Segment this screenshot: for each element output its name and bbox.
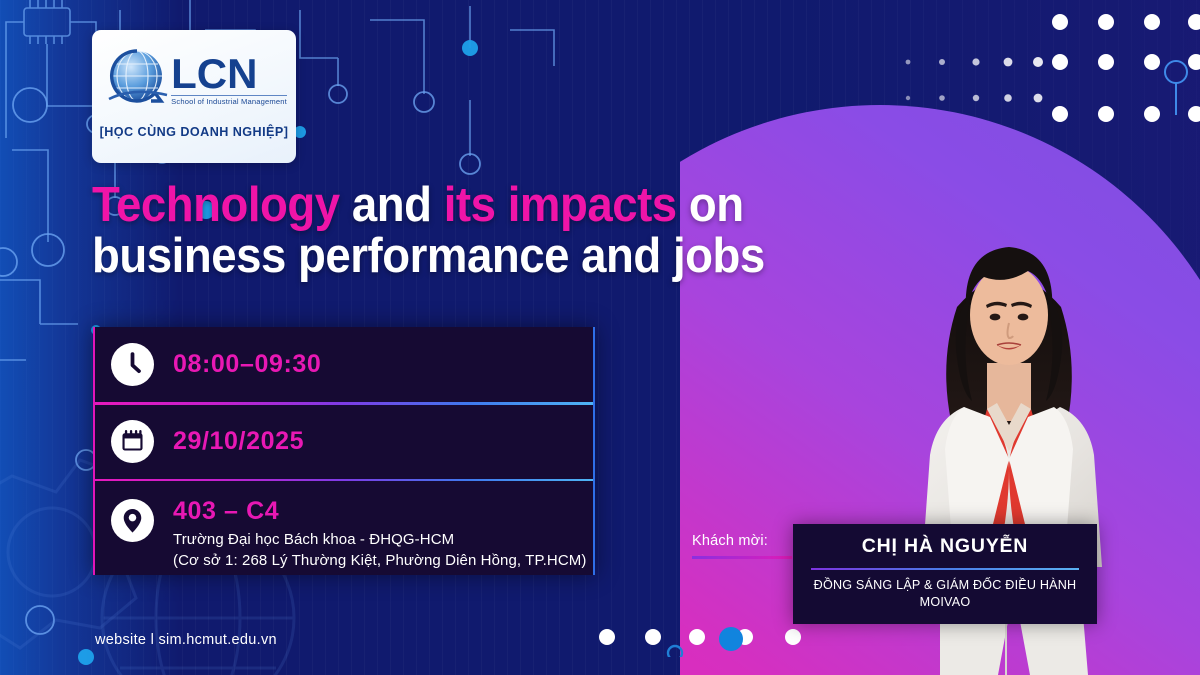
speaker-role-line-1: ĐỒNG SÁNG LẬP & GIÁM ĐỐC ĐIỀU HÀNH [814,578,1077,592]
title-word-and: and [352,178,432,232]
clock-icon [111,343,154,386]
guest-underline [692,556,792,559]
title-line-2: business performance and jobs [92,231,780,282]
speaker-name: CHỊ HÀ NGUYỄN [862,535,1028,558]
logo-box: LCN School of Industrial Management [HỌC… [92,30,296,163]
speaker-card: CHỊ HÀ NGUYỄN ĐỒNG SÁNG LẬP & GIÁM ĐỐC Đ… [793,524,1097,624]
title-line-1: Technology and its impacts on [92,180,780,231]
logo-text-block: LCN School of Industrial Management [171,54,287,106]
info-row-location: 403 – C4 Trường Đại học Bách khoa - ĐHQG… [95,481,593,580]
event-date: 29/10/2025 [173,427,304,456]
logo-tagline: [HỌC CÙNG DOANH NGHIỆP] [100,125,289,139]
speaker-card-rule [811,568,1079,570]
info-row-time: 08:00–09:30 [95,327,593,402]
page-title: Technology and its impacts on business p… [92,180,780,282]
event-time: 08:00–09:30 [173,350,321,379]
location-text-block: 403 – C4 Trường Đại học Bách khoa - ĐHQG… [173,497,586,571]
calendar-icon [111,420,154,463]
title-word-on: on [689,178,744,232]
globe-icon [101,43,175,117]
title-word-its-impacts: its impacts [444,178,677,232]
speaker-role: ĐỒNG SÁNG LẬP & GIÁM ĐỐC ĐIỀU HÀNH MOIVA… [800,577,1090,611]
info-row-date: 29/10/2025 [95,405,593,479]
logo-row: LCN School of Industrial Management [92,36,296,124]
title-word-technology: Technology [92,178,340,232]
guest-label: Khách mời: [692,533,796,549]
event-info-panel: 08:00–09:30 29/10/2025 [93,327,595,575]
event-address: (Cơ sở 1: 268 Lý Thường Kiệt, Phường Diê… [173,550,586,571]
event-room: 403 – C4 [173,497,586,526]
logo-subtitle: School of Industrial Management [171,95,287,107]
website-link[interactable]: website l sim.hcmut.edu.vn [95,632,277,648]
event-poster: LCN School of Industrial Management [HỌC… [0,0,1200,675]
guest-label-block: Khách mời: [692,533,796,559]
event-venue: Trường Đại học Bách khoa - ĐHQG-HCM [173,529,586,550]
logo-name: LCN [171,54,287,94]
speaker-role-line-2: MOIVAO [920,595,971,609]
map-pin-icon [111,499,154,542]
